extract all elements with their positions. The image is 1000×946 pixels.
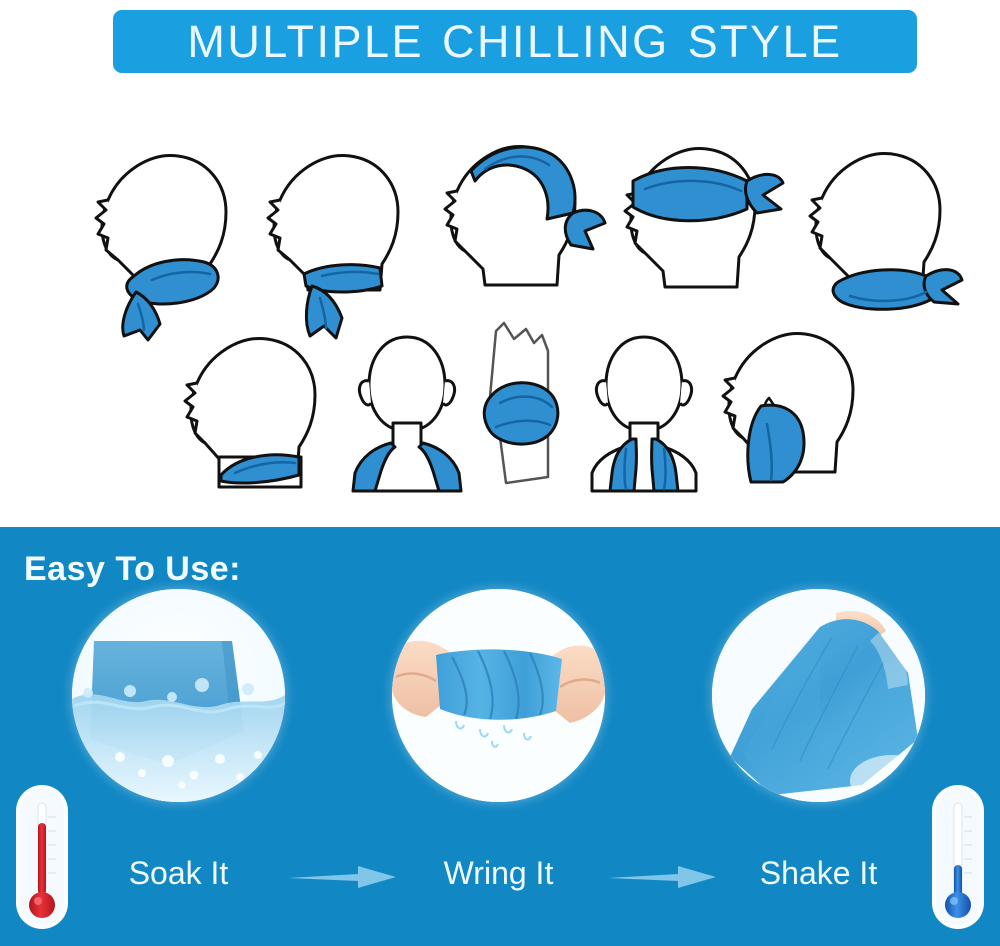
style-neck-gaiter-collar-profile [165, 325, 330, 495]
title-word-2: CHILLING [442, 16, 670, 67]
easy-to-use-section: Easy To Use: [0, 527, 1000, 946]
thermometer-cold-icon [930, 783, 986, 936]
title-word-3: STYLE [688, 16, 843, 67]
title-word-1: MULTIPLE [187, 16, 424, 67]
easy-to-use-heading: Easy To Use: [24, 550, 241, 589]
caption-shake-it: Shake It [712, 855, 925, 892]
thermometer-hot-icon [14, 783, 70, 936]
style-neck-wrap-knot-profile [790, 140, 965, 318]
chilling-styles-gallery [0, 85, 1000, 525]
photo-soak-it [72, 589, 285, 802]
photo-wring-it [392, 589, 605, 802]
product-infographic: MULTIPLECHILLINGSTYLE [0, 0, 1000, 946]
style-scarf-around-neck-profile [78, 140, 248, 315]
caption-wring-it: Wring It [392, 855, 605, 892]
style-headband-tied-back [605, 137, 785, 315]
style-neck-tie-knot-profile [250, 140, 415, 315]
page-title: MULTIPLECHILLINGSTYLE [187, 16, 842, 68]
caption-soak-it: Soak It [72, 855, 285, 892]
style-shoulder-drape-front [335, 323, 480, 495]
style-wrist-arm-wrap [470, 317, 575, 497]
style-cheek-face-cooling-profile [695, 320, 870, 495]
style-diagonal-bandana-head [425, 133, 605, 315]
arrow-right-icon-1 [288, 864, 398, 890]
photo-shake-it [712, 589, 925, 802]
arrow-right-icon-2 [608, 864, 718, 890]
title-banner: MULTIPLECHILLINGSTYLE [113, 10, 917, 73]
